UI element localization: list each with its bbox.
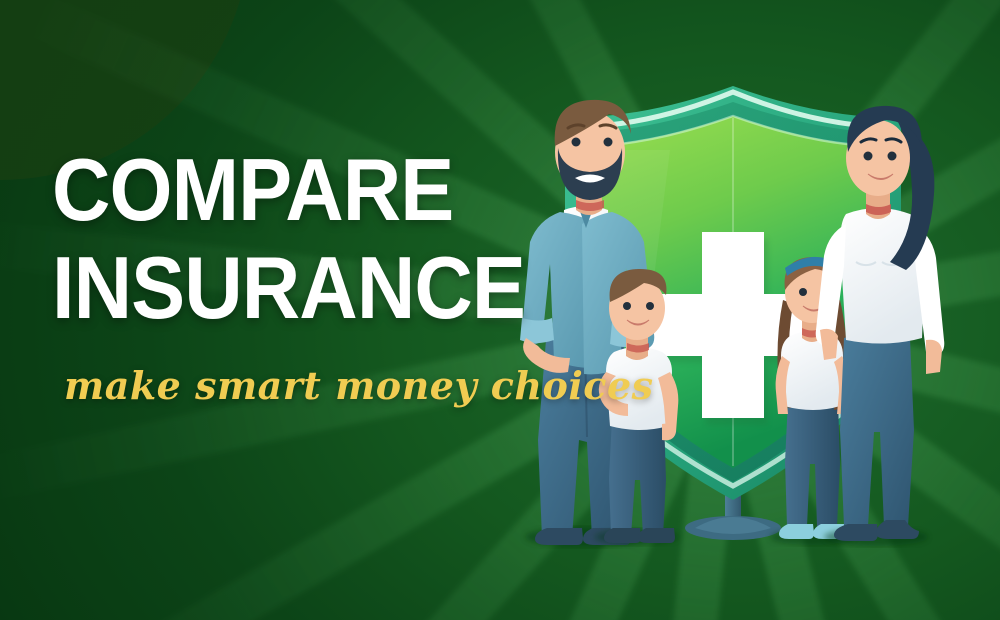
boy-shoe-left: [604, 528, 641, 543]
headline-block: COMPARE INSURANCE make smart money choic…: [52, 148, 572, 408]
boy-jeans: [609, 414, 666, 536]
boy-shoe-right: [638, 528, 675, 543]
girl-jeans: [785, 396, 840, 526]
father-shoe-left: [535, 528, 583, 545]
page-title-line1: COMPARE: [52, 148, 530, 232]
girl-shoe-left: [779, 524, 814, 539]
page-subtitle: make smart money choices: [64, 363, 572, 408]
mother-shoe-right: [876, 520, 919, 539]
page-title-line2: INSURANCE: [52, 246, 530, 330]
mother-jeans: [840, 333, 914, 526]
insurance-banner: COMPARE INSURANCE make smart money choic…: [0, 0, 1000, 620]
